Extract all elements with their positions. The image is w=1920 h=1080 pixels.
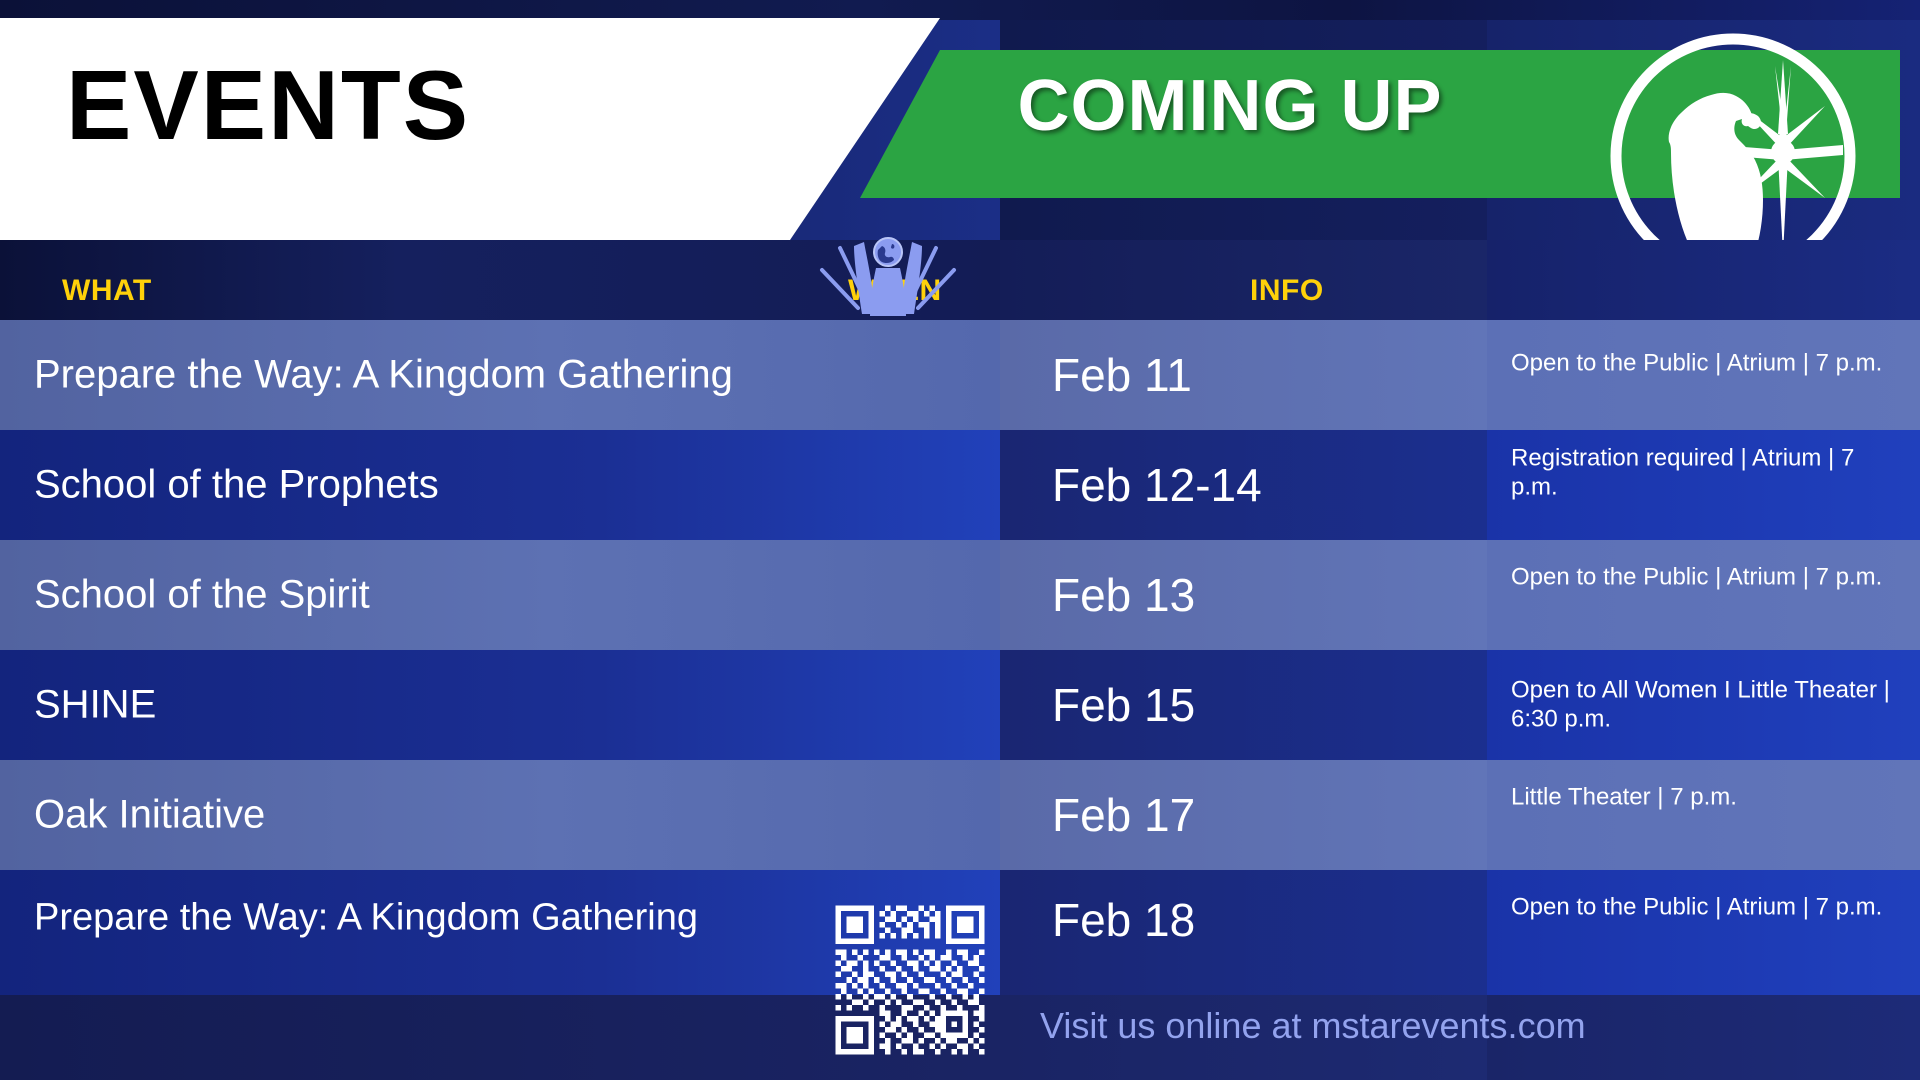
events-slide: EVENTS COMING UP bbox=[0, 0, 1920, 1080]
event-info: Registration required | Atrium | 7 p.m. bbox=[1511, 444, 1904, 503]
row-cell-when: Feb 18 bbox=[1000, 870, 1487, 995]
event-info: Open to the Public | Atrium | 7 p.m. bbox=[1511, 892, 1904, 921]
event-name: Prepare the Way: A Kingdom Gathering bbox=[34, 897, 698, 940]
row-cell-info: Open to the Public | Atrium | 7 p.m. bbox=[1487, 540, 1920, 650]
page-title: EVENTS bbox=[66, 56, 470, 154]
event-name: SHINE bbox=[34, 683, 156, 728]
row-cell-when: Feb 12-14 bbox=[1000, 430, 1487, 540]
qr-code-icon[interactable] bbox=[830, 890, 990, 1070]
top-strip bbox=[0, 0, 1920, 20]
event-info: Little Theater | 7 p.m. bbox=[1511, 782, 1904, 811]
raised-hands-rays-icon bbox=[818, 232, 958, 320]
row-cell-what: School of the Spirit bbox=[0, 540, 1000, 650]
row-cell-info: Little Theater | 7 p.m. bbox=[1487, 760, 1920, 870]
table-header-row: WHAT WHEN INFO bbox=[0, 240, 1920, 320]
row-cell-when: Feb 17 bbox=[1000, 760, 1487, 870]
column-header-what: WHAT bbox=[62, 274, 152, 308]
row-cell-what: School of the Prophets bbox=[0, 430, 1000, 540]
event-name: Oak Initiative bbox=[34, 793, 265, 838]
event-name: School of the Spirit bbox=[34, 573, 370, 618]
event-name: Prepare the Way: A Kingdom Gathering bbox=[34, 353, 733, 398]
event-date: Feb 12-14 bbox=[1052, 458, 1262, 512]
row-cell-info: Open to All Women I Little Theater | 6:3… bbox=[1487, 650, 1920, 760]
row-cell-info: Registration required | Atrium | 7 p.m. bbox=[1487, 430, 1920, 540]
event-date: Feb 17 bbox=[1052, 788, 1195, 842]
event-info: Open to All Women I Little Theater | 6:3… bbox=[1511, 676, 1904, 735]
row-cell-info: Open to the Public | Atrium | 7 p.m. bbox=[1487, 320, 1920, 430]
row-cell-what: Prepare the Way: A Kingdom Gathering bbox=[0, 320, 1000, 430]
event-info: Open to the Public | Atrium | 7 p.m. bbox=[1511, 562, 1904, 591]
event-date: Feb 11 bbox=[1052, 348, 1192, 402]
event-name: School of the Prophets bbox=[34, 463, 439, 508]
row-cell-when: Feb 15 bbox=[1000, 650, 1487, 760]
table-row[interactable]: School of the Prophets Feb 12-14 Registr… bbox=[0, 430, 1920, 540]
visit-website-text: Visit us online at mstarevents.com bbox=[1040, 1005, 1586, 1047]
row-cell-when: Feb 11 bbox=[1000, 320, 1487, 430]
coming-up-label: COMING UP bbox=[920, 64, 1540, 149]
table-row[interactable]: School of the Spirit Feb 13 Open to the … bbox=[0, 540, 1920, 650]
header-cell-info bbox=[1487, 240, 1920, 320]
event-date: Feb 13 bbox=[1052, 568, 1195, 622]
table-row[interactable]: Prepare the Way: A Kingdom Gathering Feb… bbox=[0, 320, 1920, 430]
event-date: Feb 15 bbox=[1052, 678, 1195, 732]
event-date: Feb 18 bbox=[1052, 893, 1195, 947]
row-cell-what: SHINE bbox=[0, 650, 1000, 760]
row-cell-what: Oak Initiative bbox=[0, 760, 1000, 870]
event-info: Open to the Public | Atrium | 7 p.m. bbox=[1511, 348, 1904, 377]
header-cell-when bbox=[1000, 240, 1487, 320]
table-row[interactable]: SHINE Feb 15 Open to All Women I Little … bbox=[0, 650, 1920, 760]
column-header-info: INFO bbox=[1250, 274, 1324, 308]
row-cell-when: Feb 13 bbox=[1000, 540, 1487, 650]
table-row[interactable]: Oak Initiative Feb 17 Little Theater | 7… bbox=[0, 760, 1920, 870]
row-cell-info: Open to the Public | Atrium | 7 p.m. bbox=[1487, 870, 1920, 995]
